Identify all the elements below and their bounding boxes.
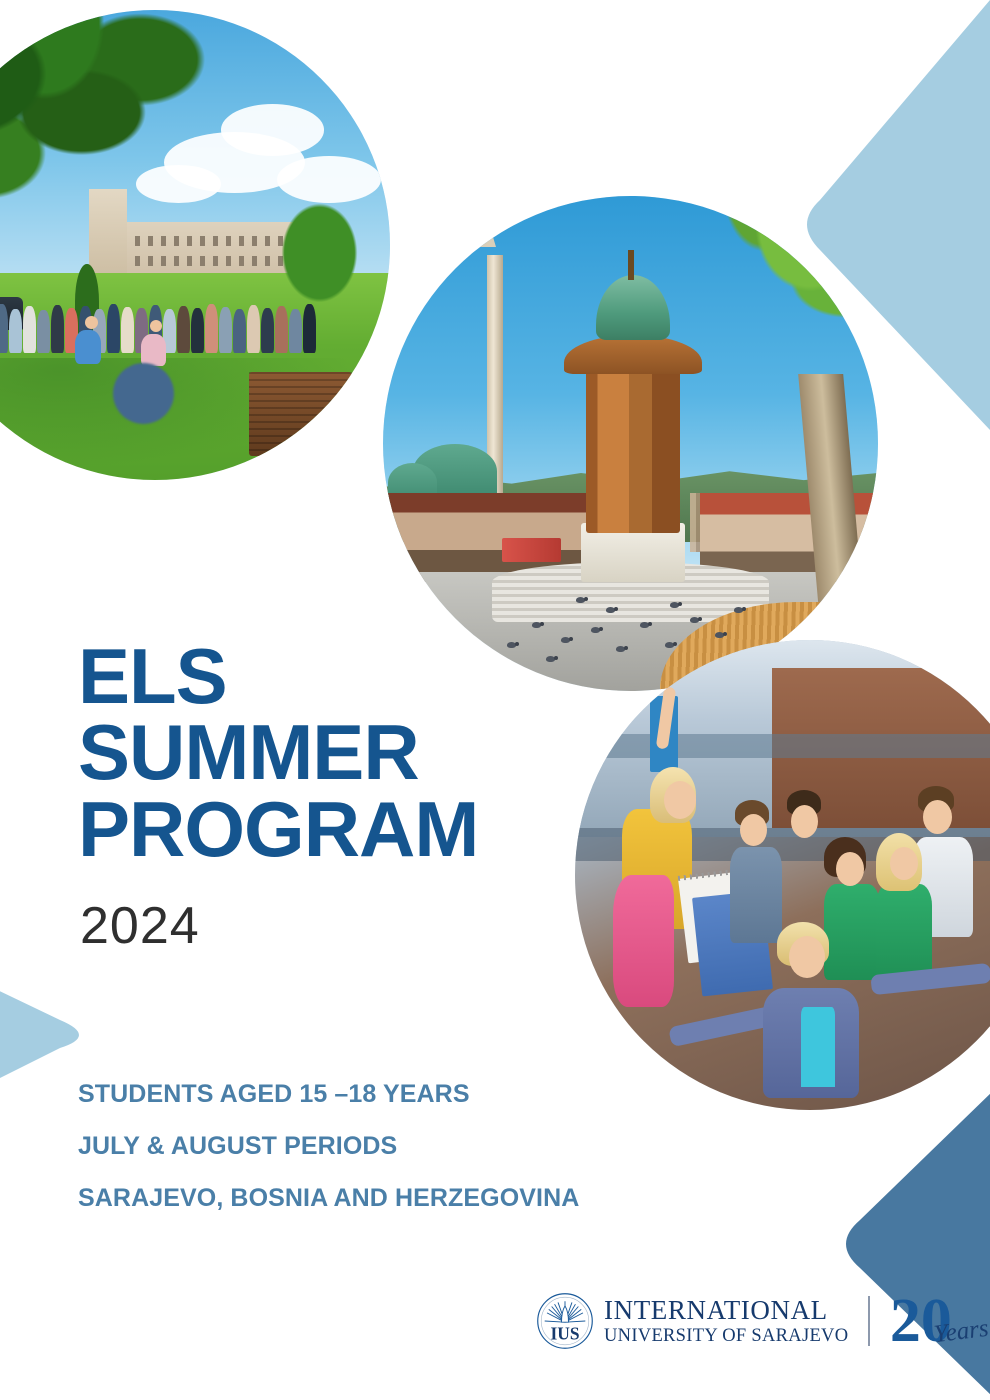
headline-line-1: ELS: [78, 638, 638, 714]
logo-line-2: UNIVERSITY OF SARAJEVO: [604, 1327, 848, 1346]
footer-logo-bar: IUS INTERNATIONAL UNIVERSITY OF SARAJEVO…: [536, 1292, 952, 1350]
detail-line-periods: JULY & AUGUST PERIODS: [78, 1134, 798, 1159]
seal-initials: IUS: [551, 1324, 580, 1344]
logo-divider: [868, 1296, 870, 1346]
logo-wordmark: INTERNATIONAL UNIVERSITY OF SARAJEVO: [604, 1297, 848, 1346]
ius-seal-icon: IUS: [536, 1292, 594, 1350]
poster-page: ELS SUMMER PROGRAM 2024 STUDENTS AGED 15…: [0, 0, 990, 1400]
photo-group-on-grass: [0, 10, 390, 480]
detail-line-age: STUDENTS AGED 15 –18 YEARS: [78, 1082, 798, 1107]
poster-details: STUDENTS AGED 15 –18 YEARS JULY & AUGUST…: [78, 1082, 798, 1238]
detail-line-location: SARAJEVO, BOSNIA AND HERZEGOVINA: [78, 1186, 798, 1211]
privacy-blur-circle: [113, 363, 174, 424]
headline-line-2: SUMMER: [78, 714, 638, 790]
photo-sebilj-fountain: [383, 196, 878, 691]
poster-year: 2024: [80, 896, 200, 956]
headline-line-3: PROGRAM: [78, 791, 638, 867]
logo-line-1: INTERNATIONAL: [604, 1297, 848, 1324]
anniversary-mark: 20 Years: [890, 1296, 952, 1347]
poster-headline: ELS SUMMER PROGRAM: [78, 638, 638, 867]
